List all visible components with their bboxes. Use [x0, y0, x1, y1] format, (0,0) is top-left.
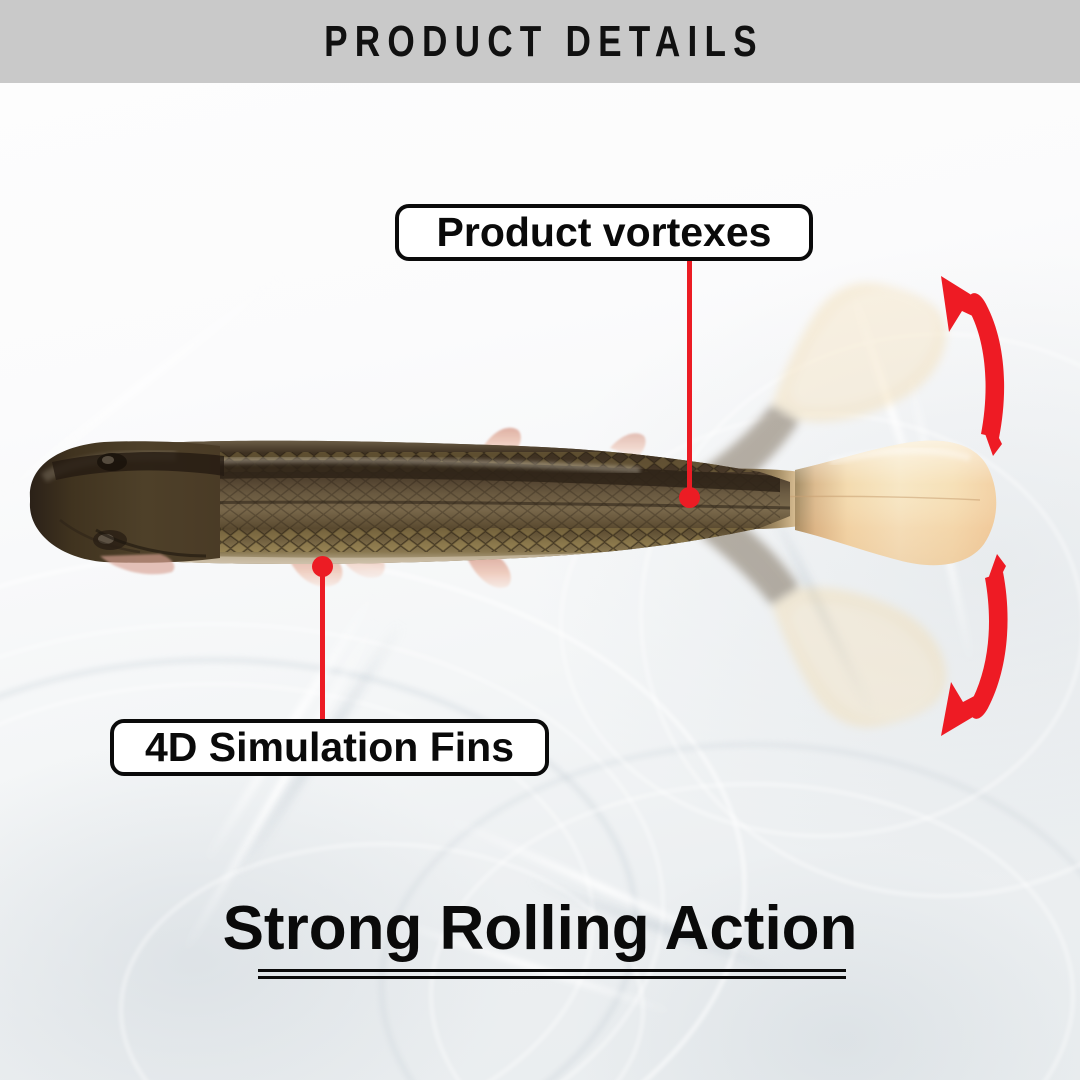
leader-line-product-vortexes — [687, 261, 692, 497]
header-banner: PRODUCT DETAILS — [0, 0, 1080, 83]
leader-dot-product-vortexes — [679, 487, 700, 508]
callout-product-vortexes: Product vortexes — [395, 204, 813, 261]
leader-dot-4d-simulation-fins — [312, 556, 333, 577]
callout-4d-simulation-fins: 4D Simulation Fins — [110, 719, 549, 776]
callout-4d-simulation-fins-label: 4D Simulation Fins — [145, 727, 514, 768]
headline-strong-rolling-action: Strong Rolling Action — [0, 898, 1080, 960]
callout-product-vortexes-label: Product vortexes — [437, 212, 772, 253]
headline-underline-top — [258, 969, 846, 972]
headline-underline-bottom — [258, 976, 846, 979]
leader-line-4d-simulation-fins — [320, 568, 325, 720]
page-title: PRODUCT DETAILS — [316, 17, 763, 67]
product-detail-page: PRODUCT DETAILS — [0, 0, 1080, 1080]
